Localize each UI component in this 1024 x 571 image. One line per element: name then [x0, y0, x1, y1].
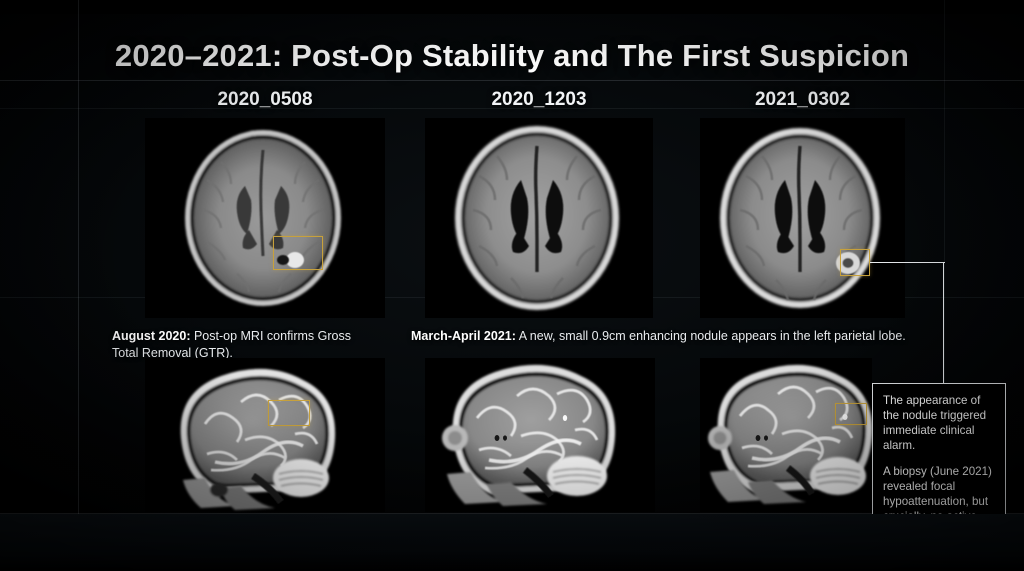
mri-sagittal-2020-1203[interactable] [425, 358, 655, 512]
mri-image-axial-1 [145, 118, 385, 318]
caption-text-2: A new, small 0.9cm enhancing nodule appe… [516, 329, 906, 343]
sagittal-lesion-highlight-2020-0508[interactable] [268, 400, 310, 426]
callout-paragraph-1: The appearance of the nodule triggered i… [883, 393, 996, 453]
mri-image-sagittal-3 [700, 358, 872, 512]
column-header-2020-0508: 2020_0508 [145, 89, 385, 111]
sagittal-nodule-highlight-2021-0302[interactable] [835, 403, 867, 425]
grid-line-horizontal-1 [0, 80, 1024, 81]
mri-sagittal-2021-0302[interactable] [700, 358, 872, 512]
slide-canvas: 2020–2021: Post-Op Stability and The Fir… [0, 0, 1024, 571]
axial-nodule-highlight-2021-0302[interactable] [840, 249, 870, 276]
grid-line-vertical-left [78, 0, 79, 571]
mri-axial-2020-1203[interactable] [425, 118, 653, 318]
caption-august-2020: August 2020: Post-op MRI confirms Gross … [112, 328, 374, 361]
caption-label-2: March-April 2021: [411, 329, 516, 343]
mri-image-sagittal-1 [145, 358, 385, 512]
page-title: 2020–2021: Post-Op Stability and The Fir… [0, 38, 1024, 74]
column-header-2021-0302: 2021_0302 [700, 89, 905, 111]
cerebellum [273, 459, 329, 497]
mri-sagittal-2020-0508[interactable] [145, 358, 385, 512]
cerebellum [810, 457, 866, 495]
cerebellum [547, 456, 607, 496]
top-letterbox-bar [0, 0, 1024, 14]
mri-image-sagittal-2 [425, 358, 655, 512]
mri-image-axial-3 [700, 118, 905, 318]
caption-march-april-2021: March-April 2021: A new, small 0.9cm enh… [411, 328, 951, 345]
column-header-2020-1203: 2020_1203 [425, 89, 653, 111]
clinical-annotation-callout[interactable]: The appearance of the nodule triggered i… [872, 383, 1006, 530]
eye-globe [708, 426, 732, 450]
mri-image-axial-2 [425, 118, 653, 318]
leader-line-vertical [943, 262, 944, 384]
eye-globe [442, 425, 468, 451]
axial-lesion-highlight-2020-0508[interactable] [273, 236, 323, 270]
caption-label-1: August 2020: [112, 329, 191, 343]
mri-axial-2020-0508[interactable] [145, 118, 385, 318]
bottom-band [0, 514, 1024, 571]
mri-axial-2021-0302[interactable] [700, 118, 905, 318]
leader-line-horizontal [870, 262, 945, 263]
